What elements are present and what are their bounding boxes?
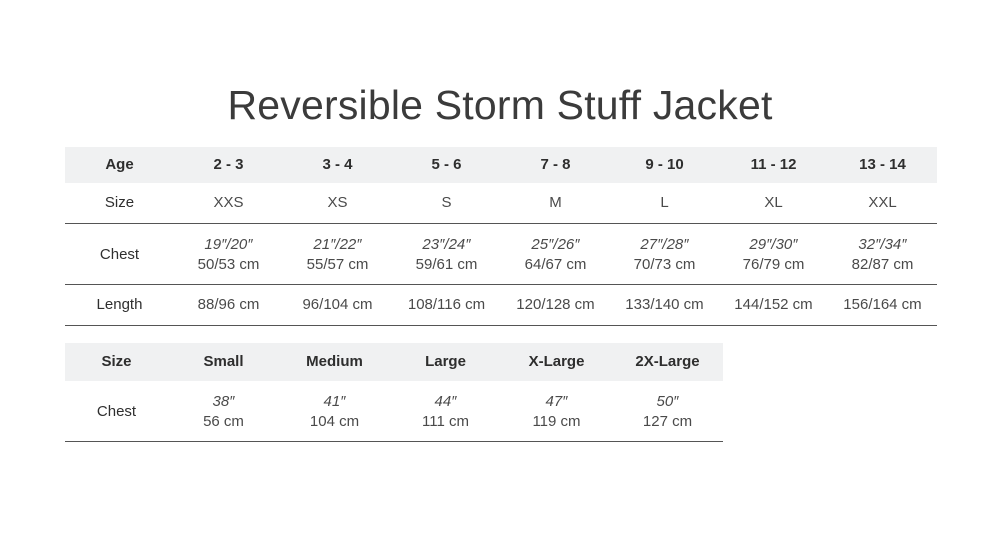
youth-chest-2-3-cm: 50/53 cm [174, 255, 283, 275]
youth-chest-13-14: 32″/34″ 82/87 cm [828, 224, 937, 285]
youth-header-age-9-10: 9 - 10 [610, 147, 719, 183]
youth-size-13-14: XXL [828, 183, 937, 224]
youth-chest-9-10: 27″/28″ 70/73 cm [610, 224, 719, 285]
youth-row-size: Size XXS XS S M L XL XXL [65, 183, 937, 224]
youth-chest-3-4-cm: 55/57 cm [283, 255, 392, 275]
adult-chest-large-inches: 44″ [390, 392, 501, 412]
youth-header-age-13-14: 13 - 14 [828, 147, 937, 183]
youth-chest-3-4: 21″/22″ 55/57 cm [283, 224, 392, 285]
adult-chest-large: 44″ 111 cm [390, 381, 501, 442]
youth-chest-11-12-inches: 29″/30″ [719, 235, 828, 255]
adult-chest-medium-cm: 104 cm [279, 412, 390, 432]
youth-size-7-8: M [501, 183, 610, 224]
youth-chest-7-8-inches: 25″/26″ [501, 235, 610, 255]
youth-header-age-11-12: 11 - 12 [719, 147, 828, 183]
youth-chest-11-12-cm: 76/79 cm [719, 255, 828, 275]
youth-header-age-7-8: 7 - 8 [501, 147, 610, 183]
youth-row-length: Length 88/96 cm 96/104 cm 108/116 cm 120… [65, 285, 937, 326]
youth-length-13-14: 156/164 cm [828, 285, 937, 326]
youth-chest-5-6: 23″/24″ 59/61 cm [392, 224, 501, 285]
youth-header-age-5-6: 5 - 6 [392, 147, 501, 183]
youth-header-age: Age [65, 147, 174, 183]
youth-table-header-row: Age 2 - 3 3 - 4 5 - 6 7 - 8 9 - 10 11 - … [65, 147, 937, 183]
adult-chest-2x-large: 50″ 127 cm [612, 381, 723, 442]
youth-size-5-6: S [392, 183, 501, 224]
youth-length-2-3: 88/96 cm [174, 285, 283, 326]
youth-chest-5-6-inches: 23″/24″ [392, 235, 501, 255]
youth-size-9-10: L [610, 183, 719, 224]
adult-chest-small: 38″ 56 cm [168, 381, 279, 442]
youth-length-7-8: 120/128 cm [501, 285, 610, 326]
youth-chest-2-3: 19″/20″ 50/53 cm [174, 224, 283, 285]
size-chart-page: Reversible Storm Stuff Jacket Age 2 - 3 … [0, 0, 1000, 542]
youth-row-chest: Chest 19″/20″ 50/53 cm 21″/22″ 55/57 cm … [65, 224, 937, 285]
adult-chest-x-large-cm: 119 cm [501, 412, 612, 432]
adult-row-chest: Chest 38″ 56 cm 41″ 104 cm 44″ 111 cm 47… [65, 381, 723, 442]
adult-header-small: Small [168, 343, 279, 381]
adult-table-header-row: Size Small Medium Large X-Large 2X-Large [65, 343, 723, 381]
adult-chest-x-large: 47″ 119 cm [501, 381, 612, 442]
adult-sizing-table: Size Small Medium Large X-Large 2X-Large… [65, 343, 723, 442]
page-title: Reversible Storm Stuff Jacket [0, 82, 1000, 129]
youth-chest-2-3-inches: 19″/20″ [174, 235, 283, 255]
youth-chest-9-10-cm: 70/73 cm [610, 255, 719, 275]
youth-chest-11-12: 29″/30″ 76/79 cm [719, 224, 828, 285]
adult-header-2x-large: 2X-Large [612, 343, 723, 381]
adult-chest-large-cm: 111 cm [390, 412, 501, 432]
youth-row-label-length: Length [65, 285, 174, 326]
adult-header-medium: Medium [279, 343, 390, 381]
youth-row-label-chest: Chest [65, 224, 174, 285]
youth-chest-3-4-inches: 21″/22″ [283, 235, 392, 255]
adult-chest-medium-inches: 41″ [279, 392, 390, 412]
adult-chest-small-inches: 38″ [168, 392, 279, 412]
adult-row-label-chest: Chest [65, 381, 168, 442]
adult-chest-2x-large-inches: 50″ [612, 392, 723, 412]
adult-chest-2x-large-cm: 127 cm [612, 412, 723, 432]
youth-length-5-6: 108/116 cm [392, 285, 501, 326]
youth-size-11-12: XL [719, 183, 828, 224]
youth-header-age-2-3: 2 - 3 [174, 147, 283, 183]
youth-chest-13-14-cm: 82/87 cm [828, 255, 937, 275]
youth-length-9-10: 133/140 cm [610, 285, 719, 326]
youth-sizing-table: Age 2 - 3 3 - 4 5 - 6 7 - 8 9 - 10 11 - … [65, 147, 937, 326]
adult-chest-x-large-inches: 47″ [501, 392, 612, 412]
adult-header-size: Size [65, 343, 168, 381]
youth-chest-13-14-inches: 32″/34″ [828, 235, 937, 255]
youth-chest-9-10-inches: 27″/28″ [610, 235, 719, 255]
adult-header-x-large: X-Large [501, 343, 612, 381]
youth-header-age-3-4: 3 - 4 [283, 147, 392, 183]
youth-chest-5-6-cm: 59/61 cm [392, 255, 501, 275]
youth-size-2-3: XXS [174, 183, 283, 224]
adult-chest-small-cm: 56 cm [168, 412, 279, 432]
adult-chest-medium: 41″ 104 cm [279, 381, 390, 442]
youth-chest-7-8-cm: 64/67 cm [501, 255, 610, 275]
adult-header-large: Large [390, 343, 501, 381]
youth-length-11-12: 144/152 cm [719, 285, 828, 326]
youth-size-3-4: XS [283, 183, 392, 224]
youth-length-3-4: 96/104 cm [283, 285, 392, 326]
youth-row-label-size: Size [65, 183, 174, 224]
youth-chest-7-8: 25″/26″ 64/67 cm [501, 224, 610, 285]
